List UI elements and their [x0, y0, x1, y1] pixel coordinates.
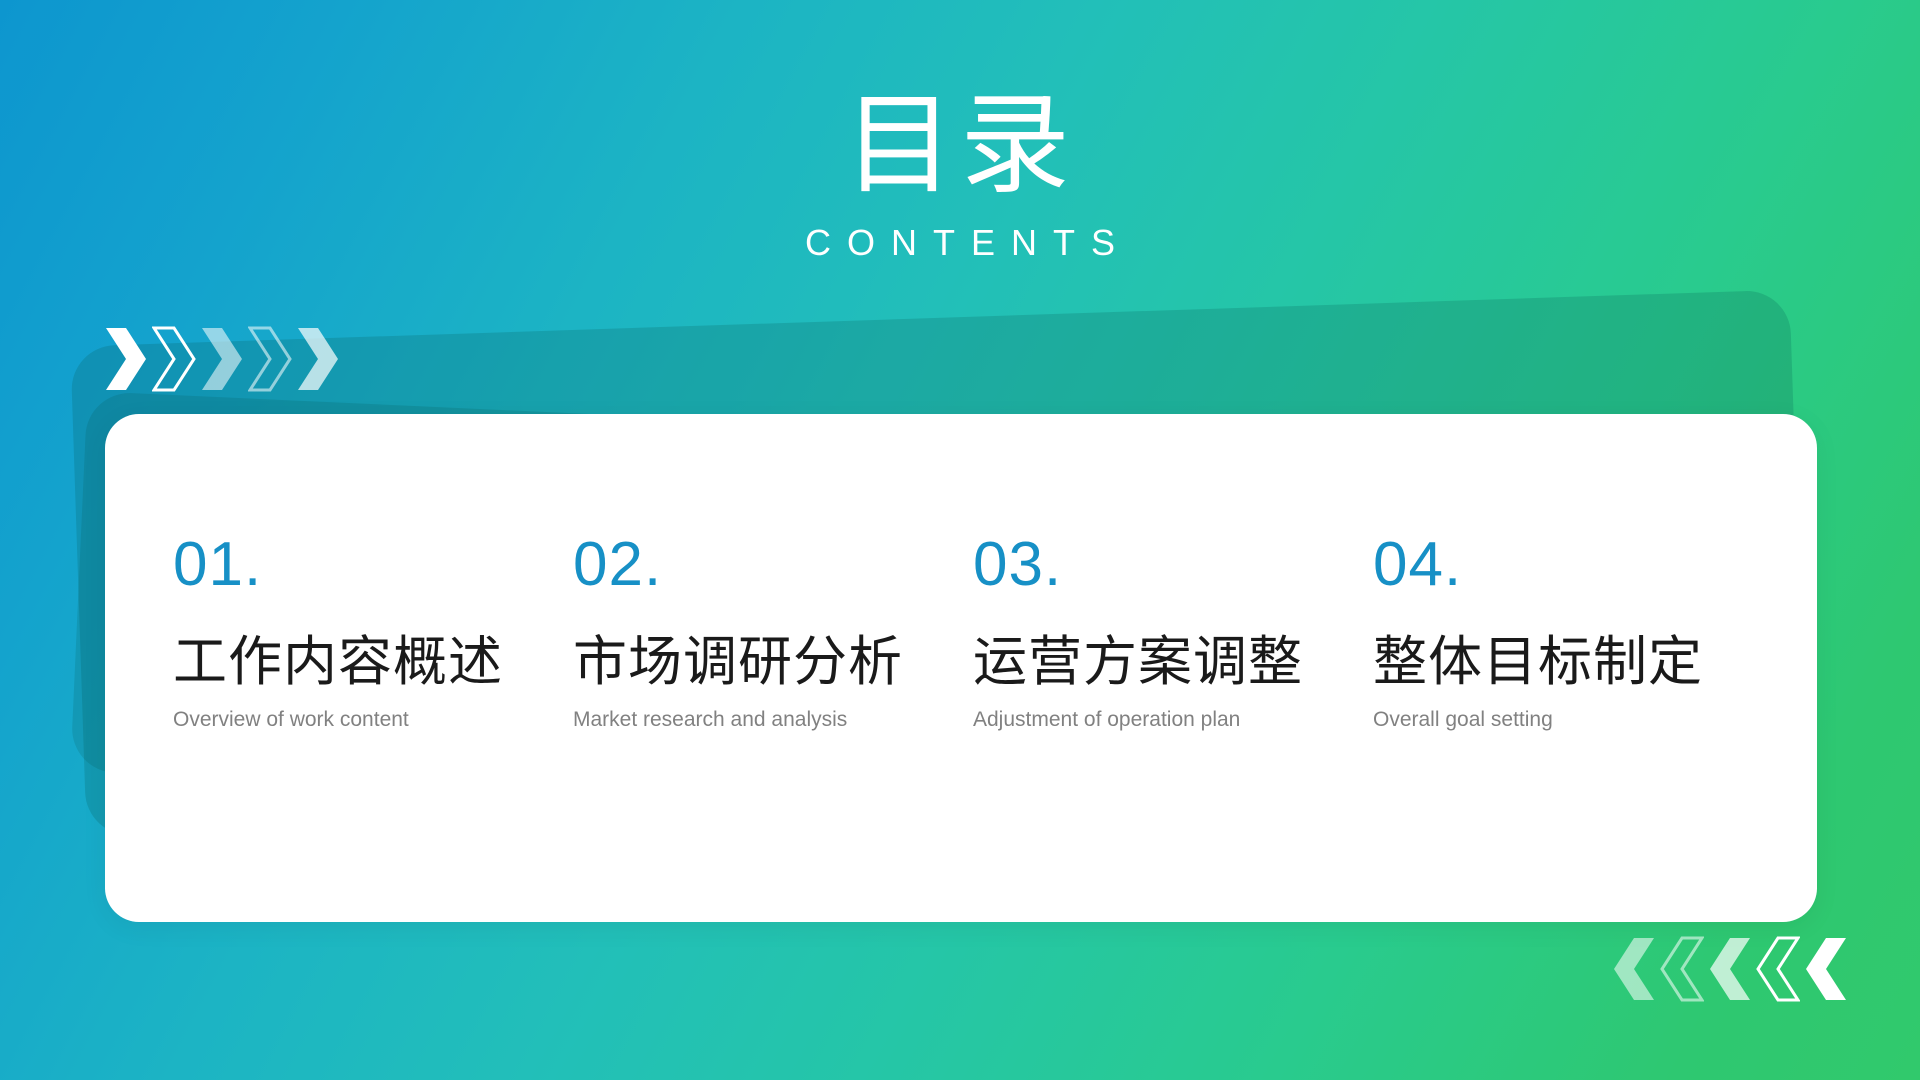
page-title: 目录 — [0, 88, 1920, 204]
page-subtitle: CONTENTS — [0, 222, 1920, 264]
chevron-left-icon — [1708, 936, 1752, 1002]
contents-item-title-cn: 工作内容概述 — [173, 632, 573, 692]
contents-item-title-en: Adjustment of operation plan — [973, 706, 1373, 733]
contents-item-01[interactable]: 01. 工作内容概述 Overview of work content — [173, 534, 573, 734]
contents-item-number: 01. — [173, 534, 573, 596]
contents-item-title-cn: 市场调研分析 — [573, 632, 973, 692]
contents-list: 01. 工作内容概述 Overview of work content 02. … — [173, 534, 1773, 734]
chevron-right-icon — [248, 326, 292, 392]
contents-item-title-en: Overall goal setting — [1373, 706, 1773, 733]
contents-item-02[interactable]: 02. 市场调研分析 Market research and analysis — [573, 534, 973, 734]
chevron-right-icon — [200, 326, 244, 392]
contents-item-title-cn: 运营方案调整 — [973, 632, 1373, 692]
slide-header: 目录 CONTENTS — [0, 88, 1920, 264]
contents-item-03[interactable]: 03. 运营方案调整 Adjustment of operation plan — [973, 534, 1373, 734]
chevron-left-icon — [1804, 936, 1848, 1002]
top-left-chevron-group — [104, 326, 344, 392]
contents-item-number: 03. — [973, 534, 1373, 596]
contents-item-number: 02. — [573, 534, 973, 596]
contents-card: 01. 工作内容概述 Overview of work content 02. … — [105, 414, 1817, 922]
chevron-left-icon — [1756, 936, 1800, 1002]
chevron-right-icon — [152, 326, 196, 392]
contents-item-title-cn: 整体目标制定 — [1373, 632, 1773, 692]
contents-item-title-en: Overview of work content — [173, 706, 573, 733]
bottom-right-chevron-group — [1612, 936, 1852, 1002]
contents-item-title-en: Market research and analysis — [573, 706, 973, 733]
contents-item-number: 04. — [1373, 534, 1773, 596]
chevron-left-icon — [1612, 936, 1656, 1002]
chevron-right-icon — [104, 326, 148, 392]
contents-item-04[interactable]: 04. 整体目标制定 Overall goal setting — [1373, 534, 1773, 734]
contents-slide: 目录 CONTENTS 01. 工作内容概述 Overview of work … — [0, 0, 1920, 1080]
chevron-right-icon — [296, 326, 340, 392]
chevron-left-icon — [1660, 936, 1704, 1002]
